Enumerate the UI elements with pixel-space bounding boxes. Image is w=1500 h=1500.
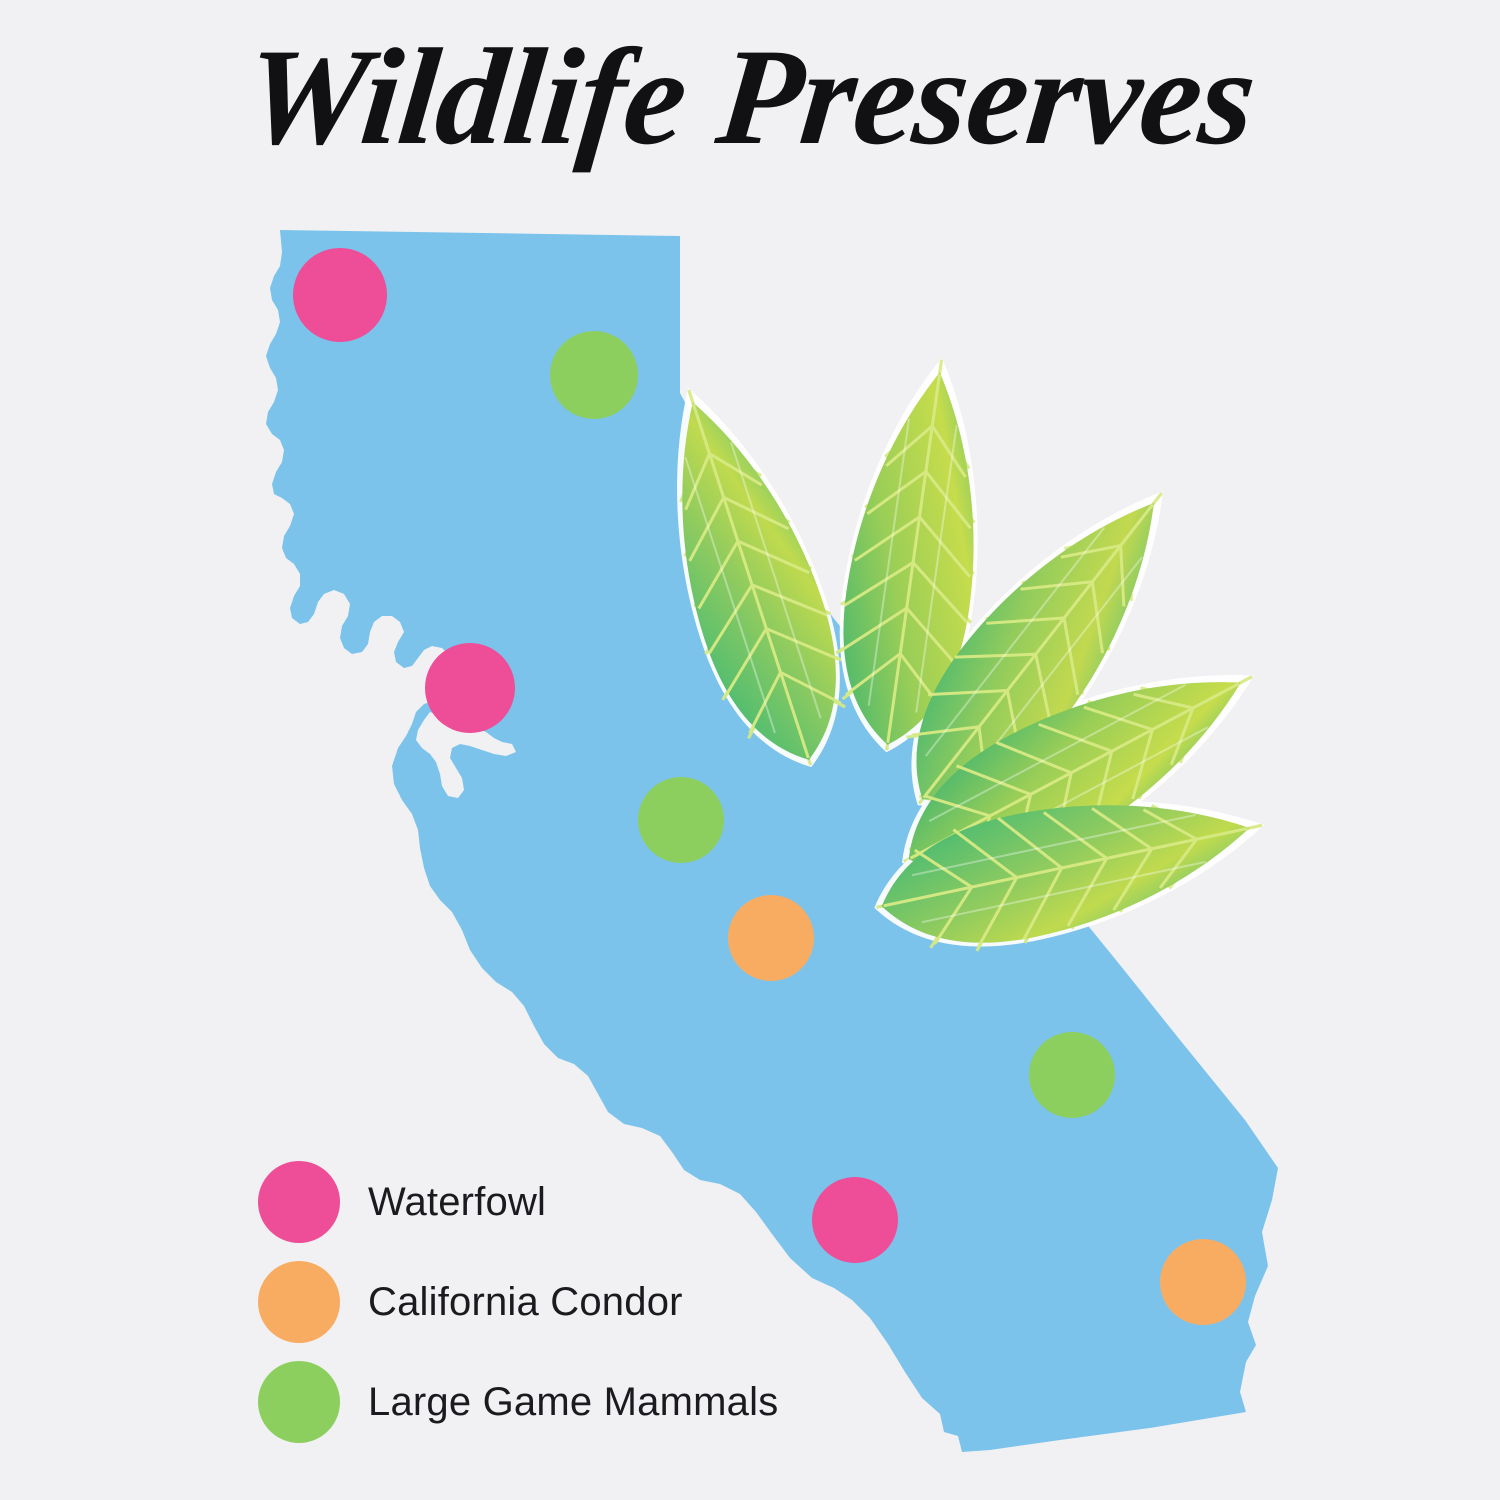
circle-marker-icon: [258, 1261, 340, 1343]
preserve-marker[interactable]: [425, 643, 515, 733]
wildlife-preserves-poster: Wildlife Preserves: [0, 0, 1500, 1500]
preserve-marker[interactable]: [728, 895, 814, 981]
legend-item-large-game-mammals[interactable]: Large Game Mammals: [258, 1352, 878, 1452]
preserve-marker[interactable]: [638, 777, 724, 863]
preserve-marker[interactable]: [1160, 1239, 1246, 1325]
legend-item-waterfowl[interactable]: Waterfowl: [258, 1152, 878, 1252]
preserve-marker[interactable]: [293, 248, 387, 342]
legend: Waterfowl California Condor Large Game M…: [258, 1152, 878, 1452]
circle-marker-icon: [258, 1161, 340, 1243]
legend-item-label: Large Game Mammals: [368, 1380, 778, 1425]
preserve-marker[interactable]: [550, 331, 638, 419]
legend-item-label: Waterfowl: [368, 1180, 546, 1225]
preserve-marker[interactable]: [1029, 1032, 1115, 1118]
legend-item-california-condor[interactable]: California Condor: [258, 1252, 878, 1352]
circle-marker-icon: [258, 1361, 340, 1443]
legend-item-label: California Condor: [368, 1280, 683, 1325]
